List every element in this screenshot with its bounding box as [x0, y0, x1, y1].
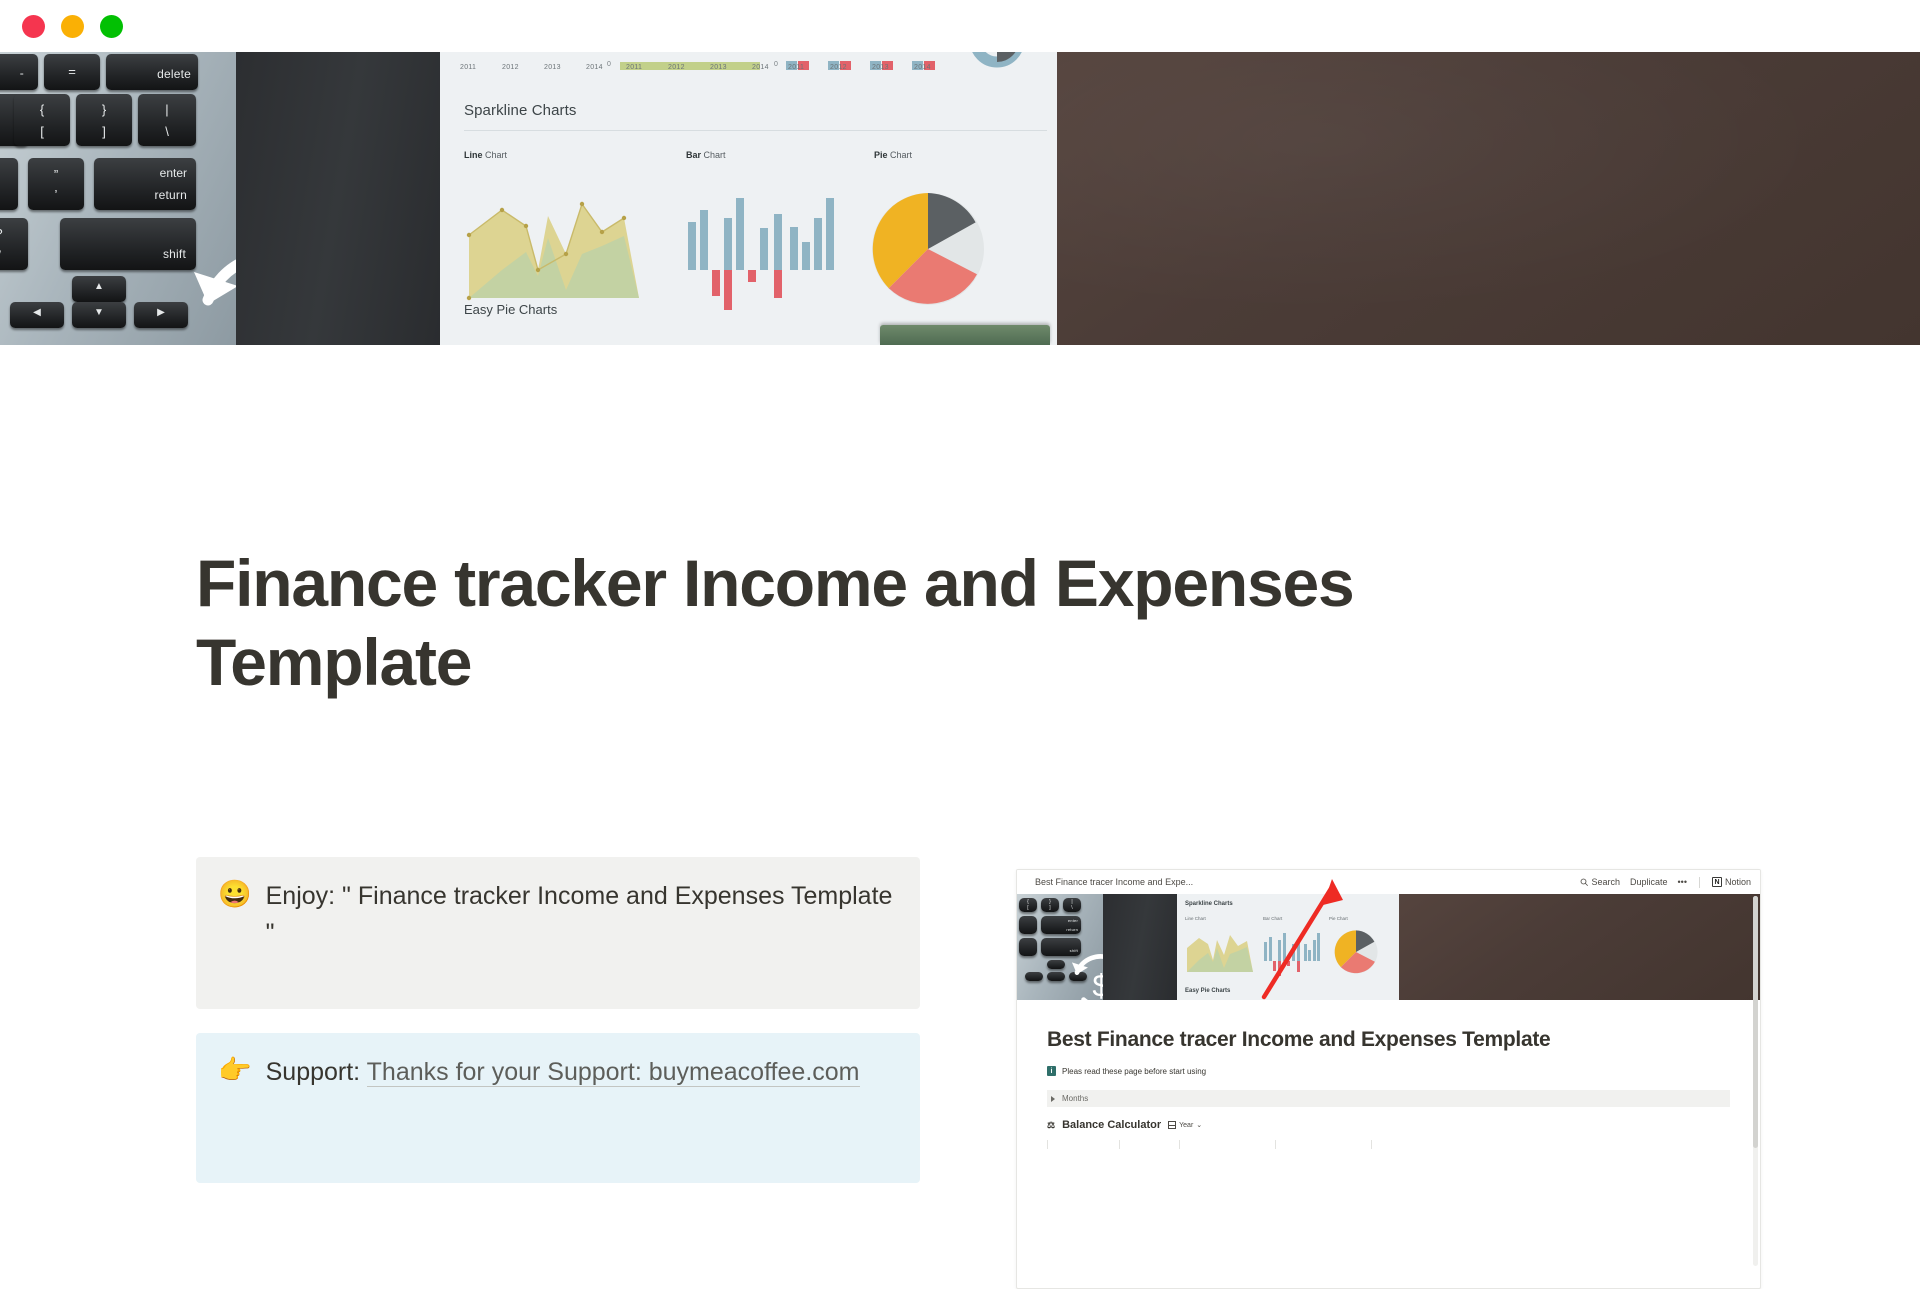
preview-paper-section-title: Sparkline Charts	[1185, 901, 1233, 907]
minimize-button[interactable]	[61, 15, 84, 38]
preview-key-1: {[	[1019, 898, 1037, 912]
preview-paper-footer-title: Easy Pie Charts	[1185, 988, 1230, 994]
content-columns: 😀 Enjoy: " Finance tracker Income and Ex…	[196, 857, 1776, 1183]
preview-chart-paper: Sparkline Charts Line Chart Bar Chart Pi…	[1177, 894, 1399, 1000]
preview-notion-brand[interactable]: N Notion	[1712, 877, 1751, 887]
preview-line-area-chart	[1185, 926, 1255, 974]
preview-desk-surface	[1399, 894, 1760, 1000]
preview-key-2: }]	[1041, 898, 1059, 912]
key-arrow-down: ▼	[72, 302, 126, 328]
topbar-divider	[1699, 877, 1700, 888]
top-axis-strip: 0 2011 2012 2013 2014 0 2011 2012 2013 2…	[440, 52, 1057, 84]
table-col-3	[1179, 1140, 1275, 1149]
notion-logo-icon: N	[1712, 877, 1722, 887]
table-col-4	[1275, 1140, 1371, 1149]
preview-document-body: Best Finance tracer Income and Expenses …	[1017, 1000, 1760, 1149]
preview-notebook-slab	[1103, 894, 1177, 1000]
callout-enjoy-text: Enjoy: " Finance tracker Income and Expe…	[266, 877, 898, 952]
pie-chart-label: Pie Chart	[874, 150, 912, 160]
key-slash: ?/	[0, 218, 28, 270]
preview-notion-label: Notion	[1725, 877, 1751, 887]
preview-table-header-row	[1047, 1140, 1730, 1149]
key-enter-return: enterreturn	[94, 158, 196, 210]
key-quote: ”’	[28, 158, 84, 210]
pointing-right-emoji: 👉	[218, 1053, 252, 1088]
preview-key-enter: enterreturn	[1041, 916, 1081, 934]
line-area-chart	[464, 180, 654, 302]
key-minus: -	[0, 54, 38, 90]
key-arrow-left: ◀	[10, 302, 64, 328]
key-brace-left: {[	[14, 94, 70, 146]
hero-cover-image: - = delete {[ }] |\ ”’ enterreturn ?/ sh…	[0, 52, 1920, 345]
chart-report-paper: 0 2011 2012 2013 2014 0 2011 2012 2013 2…	[440, 52, 1057, 345]
preview-scrollbar-thumb[interactable]	[1753, 896, 1758, 1148]
banknote	[880, 325, 1050, 345]
sparkline-pie-chart	[858, 174, 998, 324]
paper-divider	[464, 130, 1047, 131]
zoom-button[interactable]	[100, 15, 123, 38]
preview-doc-note-text: Pleas read these page before start using	[1062, 1067, 1206, 1076]
preview-doc-note: i Pleas read these page before start usi…	[1047, 1066, 1730, 1076]
preview-line-chart-label: Line Chart	[1185, 916, 1206, 921]
info-icon: i	[1047, 1066, 1056, 1076]
table-view-icon	[1168, 1121, 1176, 1129]
table-col-5	[1371, 1140, 1461, 1149]
preview-key-arrow-left	[1025, 972, 1043, 981]
callout-enjoy: 😀 Enjoy: " Finance tracker Income and Ex…	[196, 857, 920, 1009]
keyboard-region: - = delete {[ }] |\ ”’ enterreturn ?/ sh…	[0, 52, 236, 345]
preview-doc-heading: Best Finance tracer Income and Expenses …	[1047, 1028, 1730, 1052]
preview-actions: Search Duplicate ••• N Notion	[1580, 877, 1751, 888]
left-column: 😀 Enjoy: " Finance tracker Income and Ex…	[196, 857, 920, 1183]
callout-support: 👉 Support: Thanks for your Support: buym…	[196, 1033, 920, 1183]
key-arrow-up: ▲	[72, 276, 126, 302]
preview-toggle-months[interactable]: Months	[1047, 1090, 1730, 1107]
preview-toggle-label: Months	[1062, 1094, 1088, 1103]
page-title: Finance tracker Income and Expenses Temp…	[196, 544, 1626, 702]
key-brace-right: }]	[76, 94, 132, 146]
preview-duplicate-button[interactable]: Duplicate	[1630, 877, 1668, 887]
preview-balance-calculator: ⚖ Balance Calculator Year ⌄	[1047, 1119, 1730, 1131]
chevron-down-icon: ⌄	[1196, 1121, 1202, 1129]
key-arrow-right: ▶	[134, 302, 188, 328]
preview-key-arrow-up	[1047, 960, 1065, 969]
preview-keyboard-region: {[ }] |\ enterreturn shift	[1017, 894, 1103, 1000]
preview-key-4	[1019, 916, 1037, 934]
key-backslash: |\	[138, 94, 196, 146]
table-col-2	[1119, 1140, 1179, 1149]
paper-section-title: Sparkline Charts	[464, 102, 576, 119]
donut-chart-fragment	[960, 52, 1034, 74]
callout-support-body: Support: Thanks for your Support: buymea…	[266, 1053, 898, 1091]
chevron-right-icon	[1051, 1096, 1055, 1102]
page-content: Finance tracker Income and Expenses Temp…	[0, 345, 1920, 1200]
preview-sparkline-pie-chart	[1329, 924, 1383, 980]
traffic-light-controls	[22, 15, 123, 38]
preview-sparkline-bar-chart	[1263, 926, 1321, 976]
preview-search-button[interactable]: Search	[1580, 877, 1620, 887]
key-equals: =	[44, 54, 100, 90]
preview-key-3: |\	[1063, 898, 1081, 912]
preview-view-selector[interactable]: Year ⌄	[1168, 1121, 1202, 1129]
line-chart-label: Line Chart	[464, 150, 507, 160]
key-delete: delete	[106, 54, 198, 90]
preview-key-arrow-down	[1047, 972, 1065, 981]
preview-search-label: Search	[1591, 877, 1620, 887]
scale-icon: ⚖	[1047, 1120, 1055, 1131]
preview-key-slash	[1019, 938, 1037, 956]
key-semicolon	[0, 158, 18, 210]
callout-support-label: Support:	[266, 1058, 367, 1086]
buymeacoffee-link[interactable]: Thanks for your Support: buymeacoffee.co…	[367, 1058, 860, 1087]
grinning-face-emoji: 😀	[218, 877, 252, 912]
close-button[interactable]	[22, 15, 45, 38]
preview-bar-chart-label: Bar Chart	[1263, 916, 1282, 921]
preview-page-title: Best Finance tracer Income and Expe...	[1035, 877, 1193, 887]
preview-calculator-label: Balance Calculator	[1062, 1119, 1161, 1131]
search-icon	[1580, 878, 1588, 886]
preview-hero-image: {[ }] |\ enterreturn shift	[1017, 894, 1760, 1000]
notebook-slab	[236, 52, 440, 345]
paper-footer-title: Easy Pie Charts	[464, 302, 557, 317]
table-col-1	[1047, 1140, 1119, 1149]
key-shift: shift	[60, 218, 196, 270]
preview-view-label: Year	[1179, 1122, 1193, 1129]
window-title-bar	[0, 0, 1920, 52]
bar-chart-label: Bar Chart	[686, 150, 726, 160]
preview-topbar: Best Finance tracer Income and Expe... S…	[1017, 870, 1760, 894]
desk-surface	[1057, 52, 1920, 345]
template-preview-card[interactable]: Best Finance tracer Income and Expe... S…	[1016, 869, 1761, 1289]
preview-more-button[interactable]: •••	[1678, 877, 1687, 887]
preview-pie-chart-label: Pie Chart	[1329, 916, 1348, 921]
right-column: Best Finance tracer Income and Expe... S…	[1002, 857, 1747, 1183]
sparkline-bar-chart	[686, 180, 836, 310]
